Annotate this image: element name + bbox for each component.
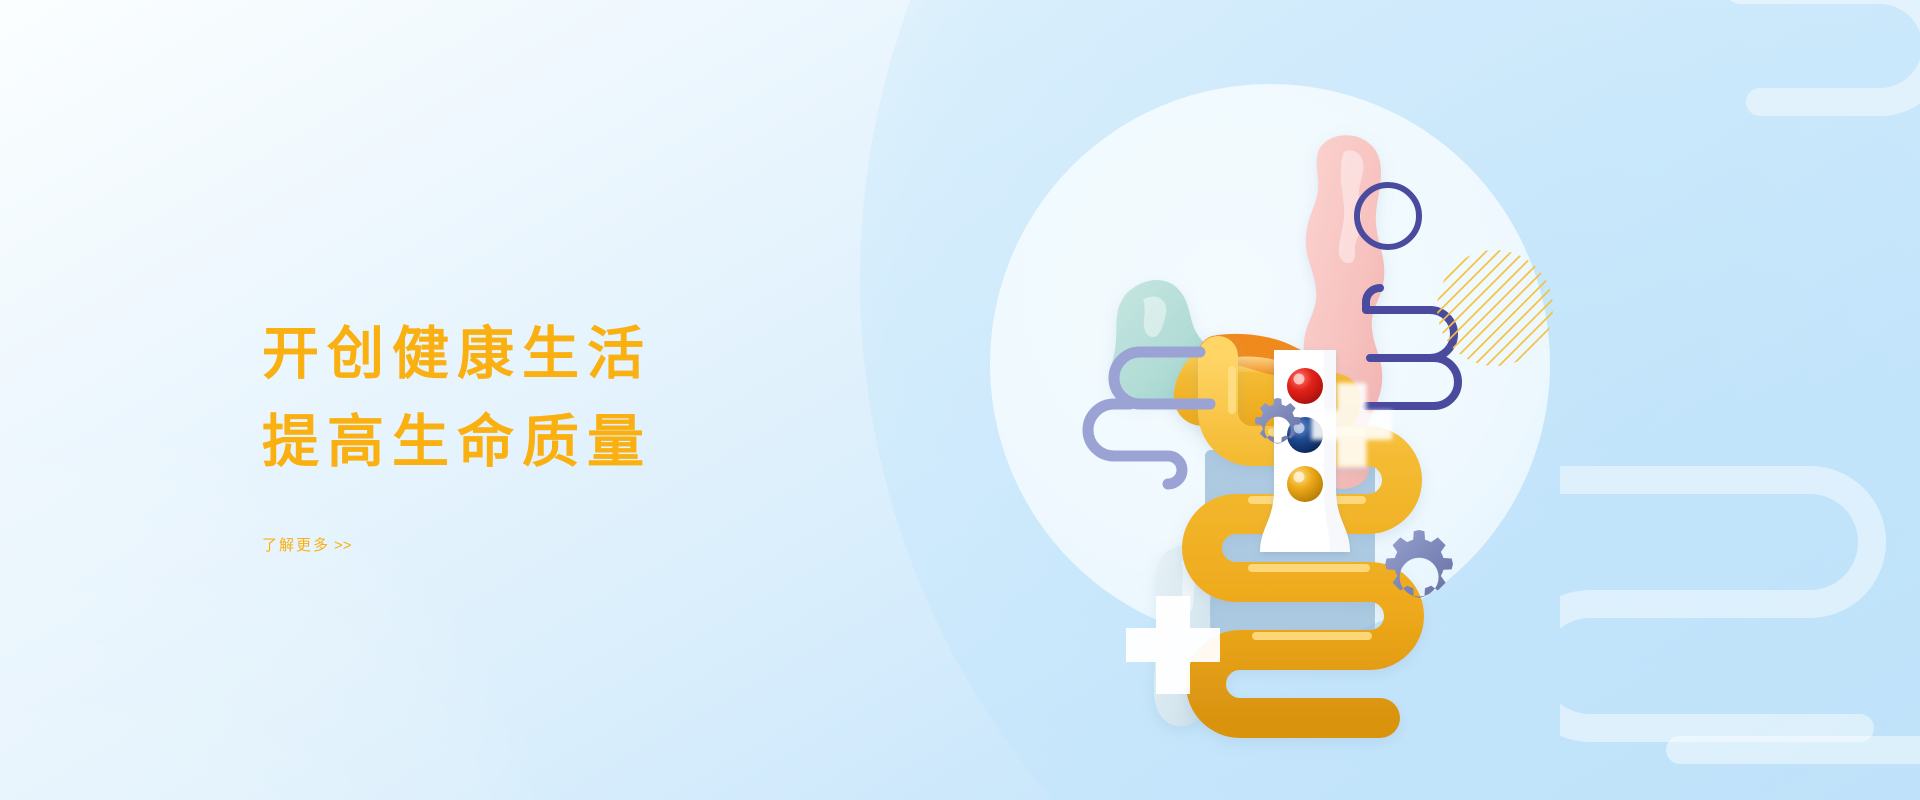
background-watermark-coils [1560,420,1920,800]
chevron-right-icon: >> [334,537,352,554]
pill-red [1287,368,1323,404]
health-hero-banner: 开创健康生活 提高生命质量 了解更多>> [0,0,1920,800]
learn-more-label: 了解更多 [262,537,330,554]
headline-line-1: 开创健康生活 [262,310,902,398]
hatched-circle [1437,250,1553,366]
pill-gold [1287,466,1323,502]
learn-more-link[interactable]: 了解更多>> [262,534,352,555]
digestive-system-illustration [900,60,1600,760]
headline-line-2: 提高生命质量 [262,398,902,486]
hero-copy: 开创健康生活 提高生命质量 了解更多>> [262,310,902,555]
background-watermark-arc [1680,0,1920,240]
